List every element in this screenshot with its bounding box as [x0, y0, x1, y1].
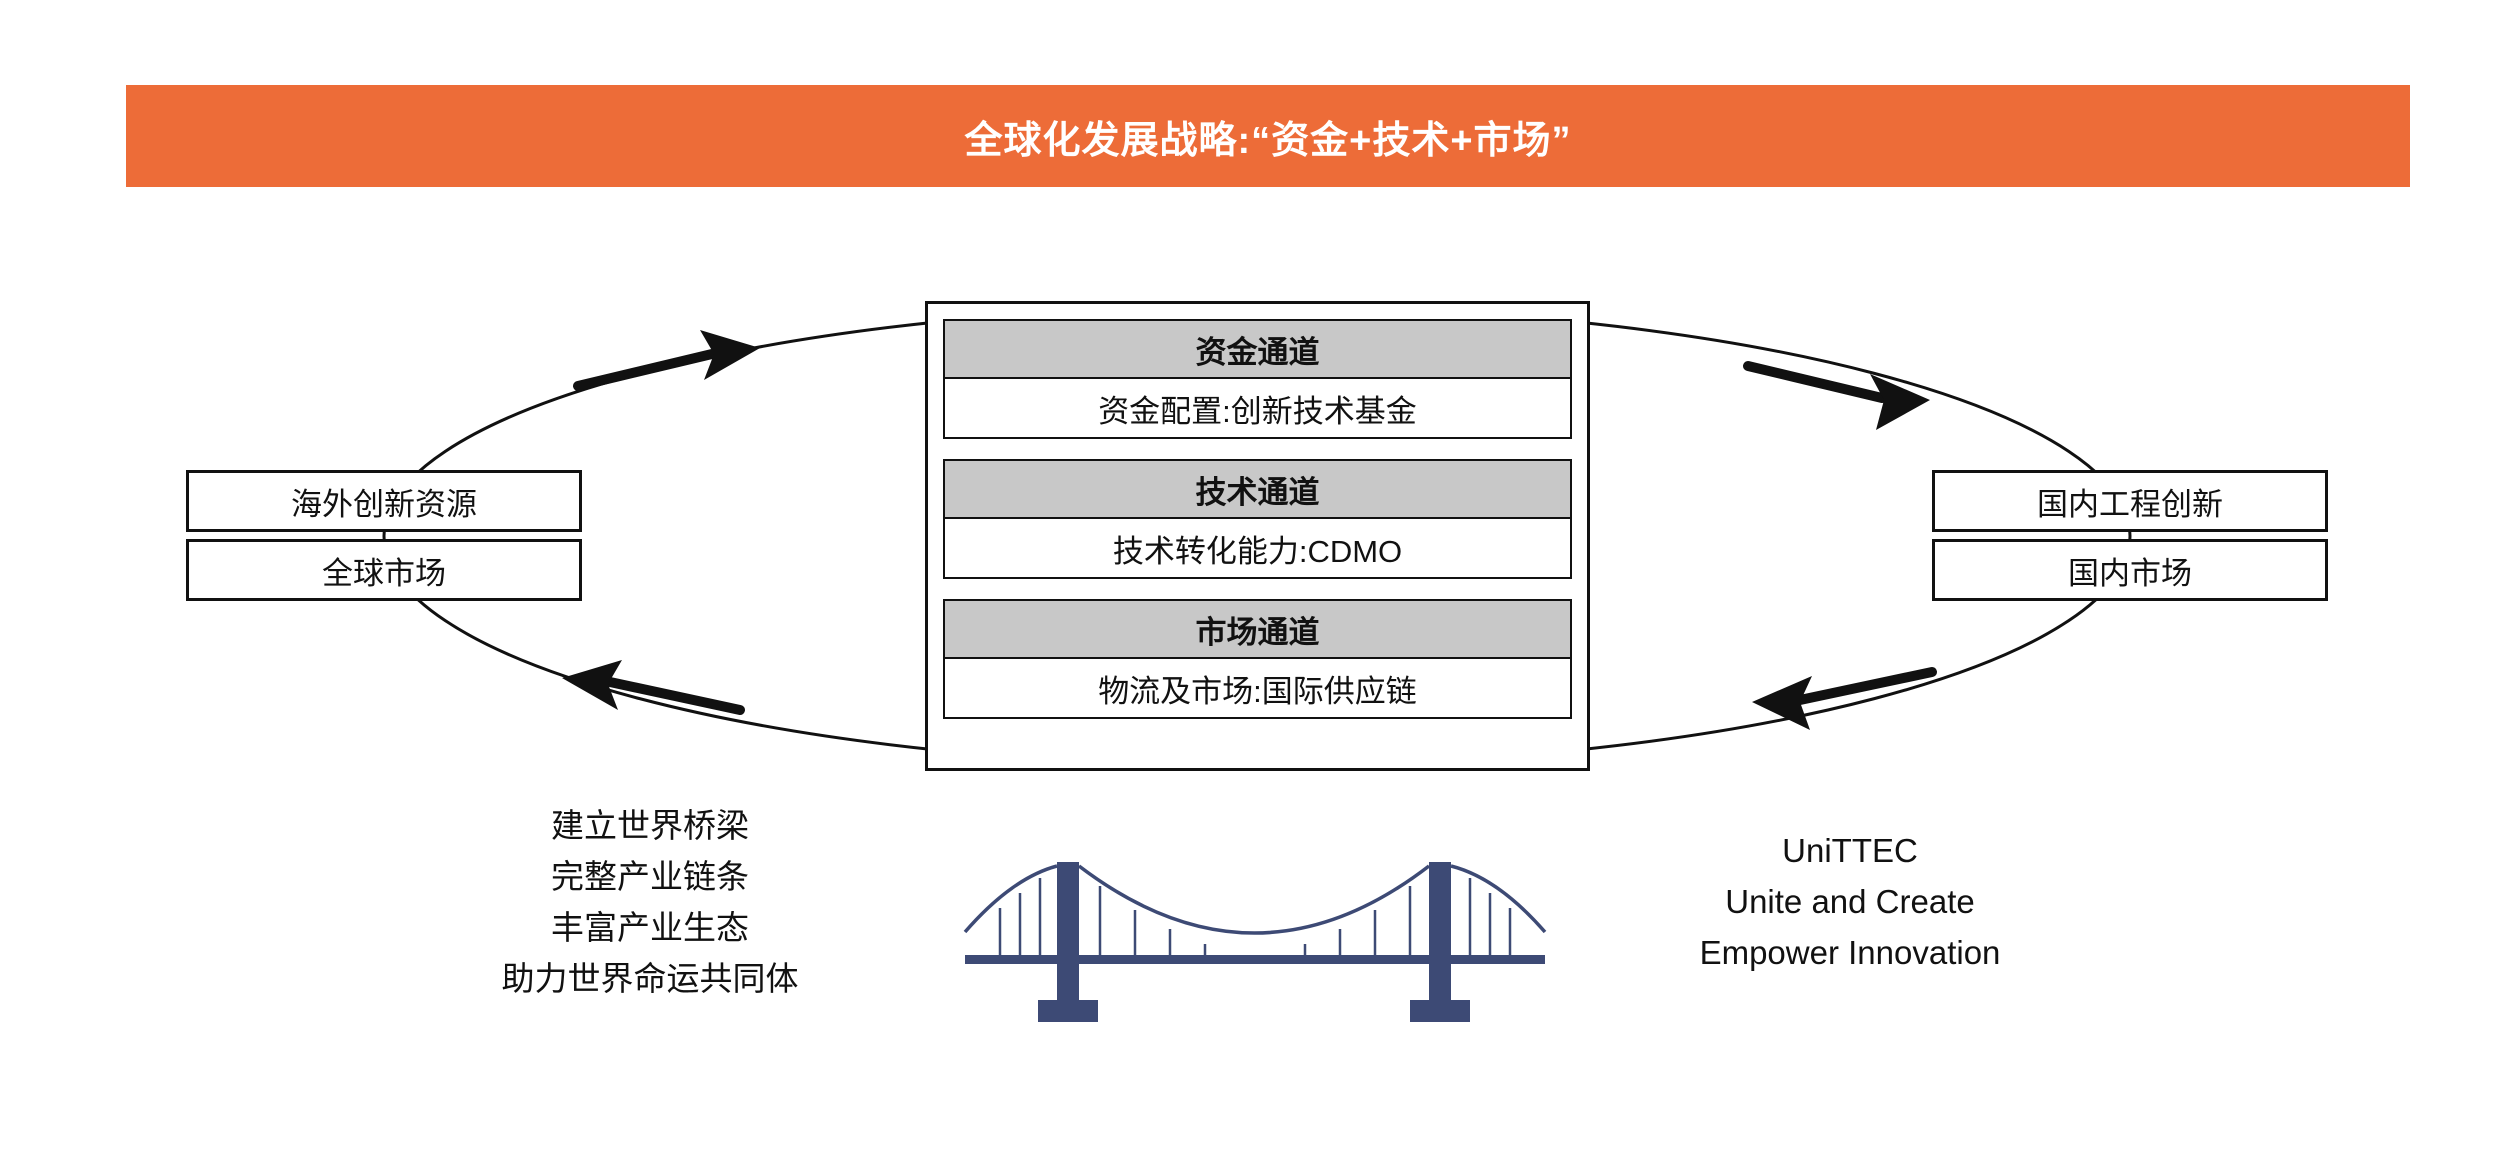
title-banner: 全球化发展战略:“资金+技术+市场”: [126, 85, 2410, 187]
arrow-top-right-icon: [1748, 366, 1930, 430]
left-box-global-market-label: 全球市场: [322, 548, 446, 593]
channel-capital[interactable]: 资金通道 资金配置:创新技术基金: [943, 319, 1572, 439]
right-box-domestic-market-label: 国内市场: [2068, 548, 2192, 593]
page-title: 全球化发展战略:“资金+技术+市场”: [964, 109, 1571, 164]
channel-technology[interactable]: 技术通道 技术转化能力:CDMO: [943, 459, 1572, 579]
channel-market-body: 物流及市场:国际供应链: [943, 659, 1572, 719]
left-box-overseas-innovation[interactable]: 海外创新资源: [186, 470, 582, 532]
right-box-domestic-market[interactable]: 国内市场: [1932, 539, 2328, 601]
left-caption-line-2: 完整产业链条: [400, 851, 900, 902]
right-caption: UniTTEC Unite and Create Empower Innovat…: [1620, 825, 2080, 978]
channel-capital-body: 资金配置:创新技术基金: [943, 379, 1572, 439]
right-group: 国内工程创新 国内市场: [1932, 470, 2328, 601]
right-caption-line-3: Empower Innovation: [1620, 927, 2080, 978]
channel-technology-header: 技术通道: [943, 459, 1572, 519]
right-box-domestic-engineering-innovation[interactable]: 国内工程创新: [1932, 470, 2328, 532]
left-box-global-market[interactable]: 全球市场: [186, 539, 582, 601]
suspension-bridge-icon: [965, 862, 1545, 1022]
left-caption: 建立世界桥梁 完整产业链条 丰富产业生态 助力世界命运共同体: [400, 800, 900, 1004]
left-group: 海外创新资源 全球市场: [186, 470, 582, 601]
left-caption-line-1: 建立世界桥梁: [400, 800, 900, 851]
channel-market[interactable]: 市场通道 物流及市场:国际供应链: [943, 599, 1572, 719]
arrow-bottom-right-icon: [1752, 672, 1932, 730]
channel-market-header: 市场通道: [943, 599, 1572, 659]
left-caption-line-4: 助力世界命运共同体: [400, 953, 900, 1004]
arrow-bottom-left-icon: [562, 660, 740, 710]
right-caption-line-2: Unite and Create: [1620, 876, 2080, 927]
right-caption-line-1: UniTTEC: [1620, 825, 2080, 876]
right-box-domestic-engineering-innovation-label: 国内工程创新: [2037, 479, 2223, 524]
left-box-overseas-innovation-label: 海外创新资源: [291, 479, 477, 524]
left-caption-line-3: 丰富产业生态: [400, 902, 900, 953]
channel-technology-body: 技术转化能力:CDMO: [943, 519, 1572, 579]
center-channels-panel: 资金通道 资金配置:创新技术基金 技术通道 技术转化能力:CDMO 市场通道 物…: [925, 301, 1590, 771]
arrow-top-left-icon: [578, 330, 760, 386]
channel-capital-header: 资金通道: [943, 319, 1572, 379]
